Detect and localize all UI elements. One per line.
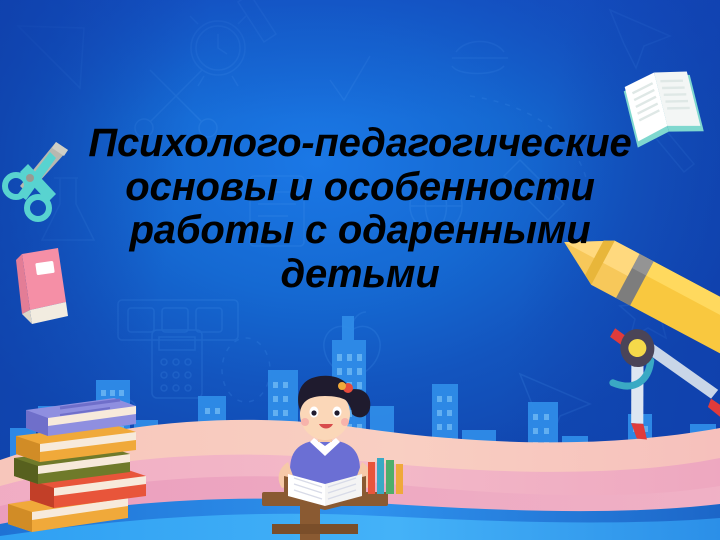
title-slide: Психолого-педагогические основы и особен… [0,0,720,540]
title-block: Психолого-педагогические основы и особен… [60,122,660,296]
book-stack-illustration [8,398,146,532]
page-title: Психолого-педагогические основы и особен… [60,122,660,296]
